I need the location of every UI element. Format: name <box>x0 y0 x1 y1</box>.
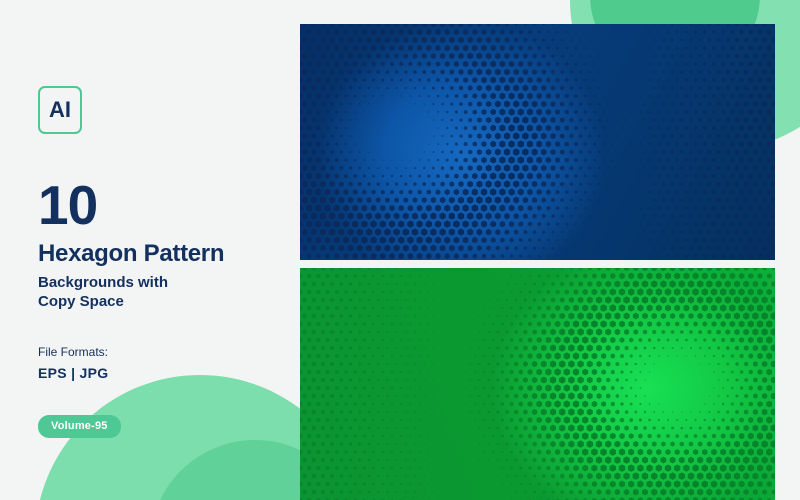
volume-badge: Volume-95 <box>38 415 121 438</box>
file-formats-label: File Formats: <box>38 345 288 359</box>
file-formats-value: EPS | JPG <box>38 365 288 381</box>
info-panel: AI 10 Hexagon Pattern Backgrounds with C… <box>38 86 288 438</box>
blue-halftone-hexagon-pattern <box>300 24 775 260</box>
ai-format-badge: AI <box>38 86 82 134</box>
page-subtitle-line2: Copy Space <box>38 293 288 312</box>
ai-badge-label: AI <box>49 99 71 121</box>
green-halftone-hexagon-pattern <box>300 268 775 500</box>
poster-canvas: AI 10 Hexagon Pattern Backgrounds with C… <box>0 0 800 500</box>
blue-hexagon-banner <box>300 24 775 260</box>
green-hexagon-banner <box>300 268 775 500</box>
green-banner-gradient <box>300 268 775 500</box>
blue-banner-gradient <box>300 24 775 260</box>
item-count: 10 <box>38 178 288 233</box>
page-title: Hexagon Pattern <box>38 241 288 268</box>
page-subtitle-line1: Backgrounds with <box>38 274 288 293</box>
